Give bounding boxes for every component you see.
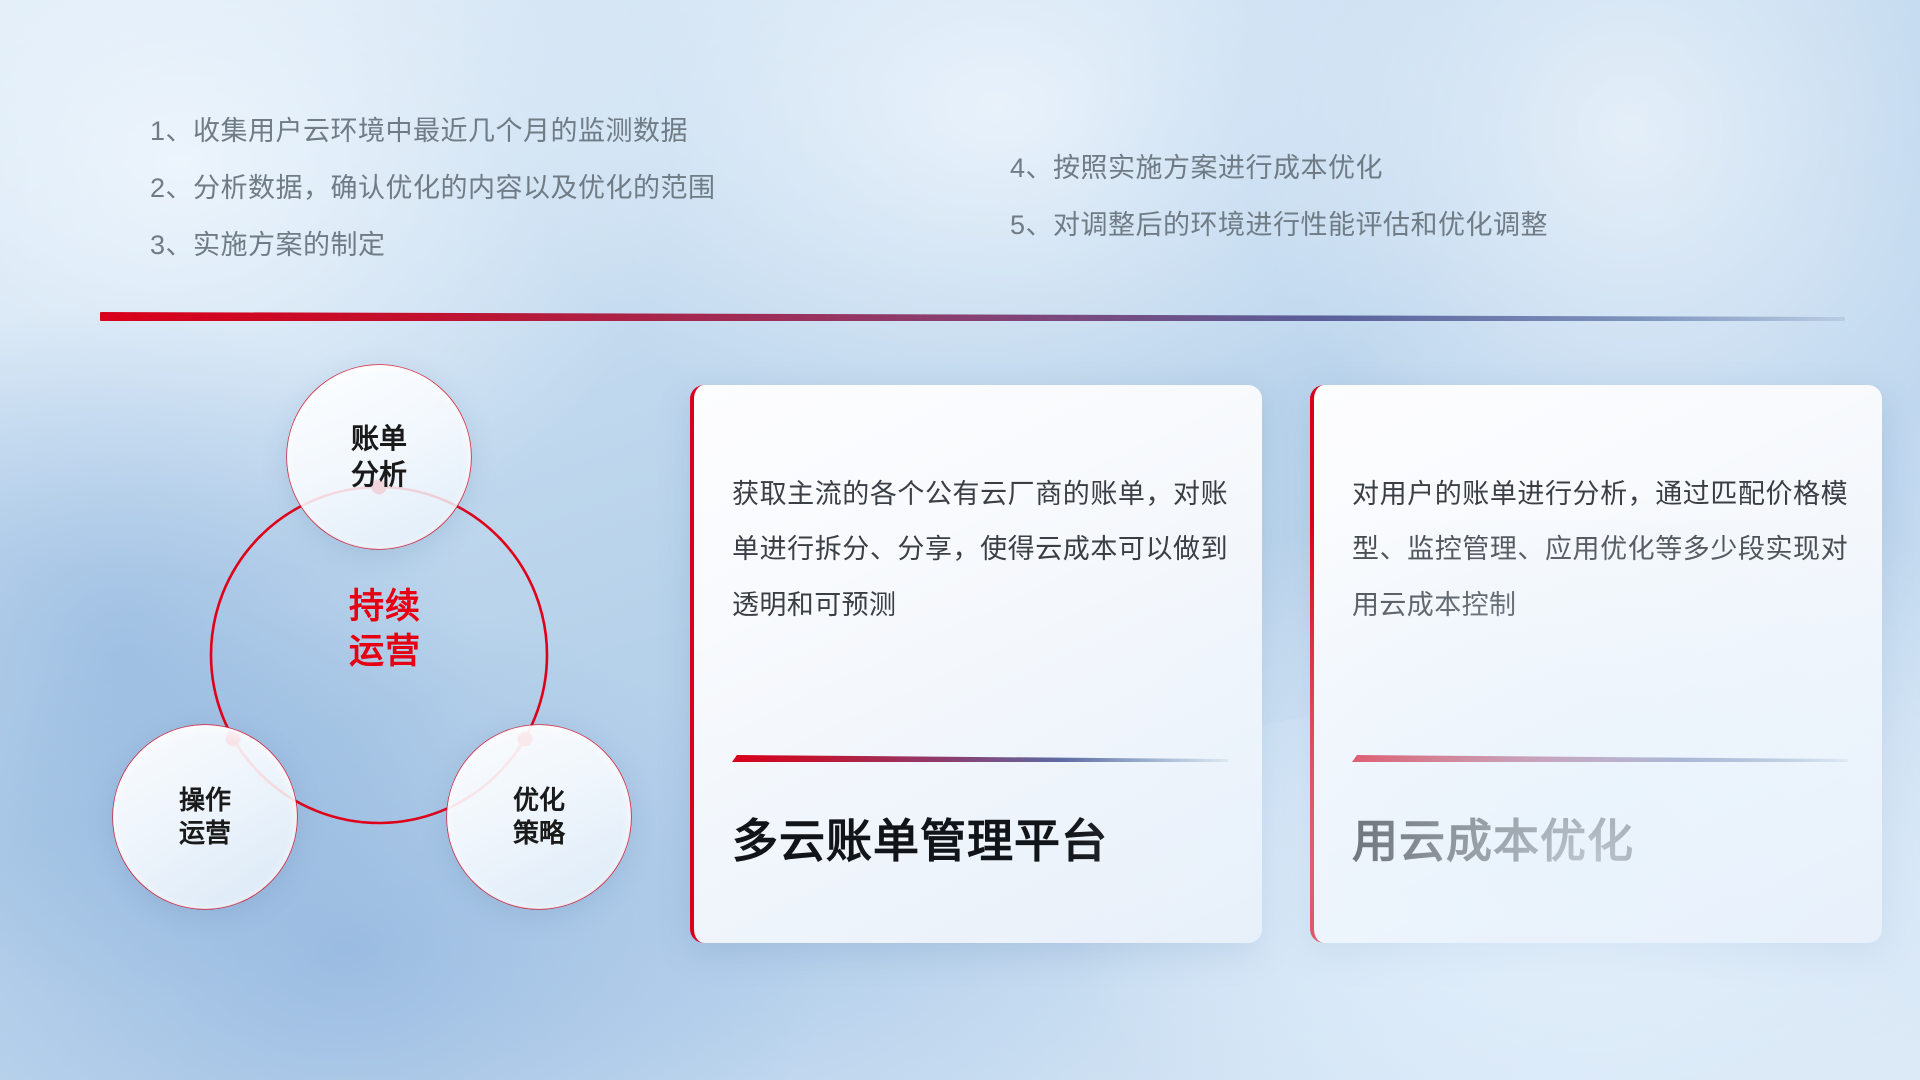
feature-card-body: 获取主流的各个公有云厂商的账单，对账单进行拆分、分享，使得云成本可以做到透明和可… <box>732 467 1228 633</box>
diagram-center-label-line2: 运营 <box>300 630 470 675</box>
continuous-operations-diagram: 账单 分析 操作 运营 优化 策略 持续 运营 <box>95 355 655 955</box>
feature-card-body: 对用户的账单进行分析，通过匹配价格模型、监控管理、应用优化等多少段实现对用云成本… <box>1352 467 1848 633</box>
diagram-node-label-line1: 优化 <box>513 784 565 817</box>
diagram-node-label-line2: 运营 <box>179 817 231 850</box>
process-step-3: 3、实施方案的制定 <box>150 232 716 259</box>
process-step-2: 2、分析数据，确认优化的内容以及优化的范围 <box>150 175 716 202</box>
process-step-5: 5、对调整后的环境进行性能评估和优化调整 <box>1010 212 1548 239</box>
diagram-node-label-line1: 账单 <box>351 421 407 457</box>
feature-card-divider <box>732 755 1228 762</box>
feature-card-divider <box>1352 755 1848 762</box>
diagram-center-label: 持续 运营 <box>300 585 470 675</box>
section-divider-bar <box>100 312 1845 321</box>
section-divider <box>100 312 1845 321</box>
feature-card-cost-optimization[interactable]: 对用户的账单进行分析，通过匹配价格模型、监控管理、应用优化等多少段实现对用云成本… <box>1310 385 1882 943</box>
diagram-node-label-line1: 操作 <box>179 784 231 817</box>
feature-card-title: 用云成本优化 <box>1352 805 1854 871</box>
diagram-node-optimization-strategy[interactable]: 优化 策略 <box>447 725 631 909</box>
process-step-1: 1、收集用户云环境中最近几个月的监测数据 <box>150 118 716 145</box>
diagram-node-bill-analysis[interactable]: 账单 分析 <box>287 365 471 549</box>
process-steps-left: 1、收集用户云环境中最近几个月的监测数据 2、分析数据，确认优化的内容以及优化的… <box>150 118 716 289</box>
slide-canvas: 1、收集用户云环境中最近几个月的监测数据 2、分析数据，确认优化的内容以及优化的… <box>0 0 1920 1080</box>
diagram-center-label-line1: 持续 <box>300 585 470 630</box>
diagram-node-label-line2: 策略 <box>513 817 565 850</box>
process-step-4: 4、按照实施方案进行成本优化 <box>1010 155 1548 182</box>
diagram-node-label-line2: 分析 <box>351 457 407 493</box>
diagram-node-operations[interactable]: 操作 运营 <box>113 725 297 909</box>
process-steps-right: 4、按照实施方案进行成本优化 5、对调整后的环境进行性能评估和优化调整 <box>1010 155 1548 269</box>
feature-card-multicloud-billing[interactable]: 获取主流的各个公有云厂商的账单，对账单进行拆分、分享，使得云成本可以做到透明和可… <box>690 385 1262 943</box>
feature-card-title: 多云账单管理平台 <box>732 805 1234 871</box>
